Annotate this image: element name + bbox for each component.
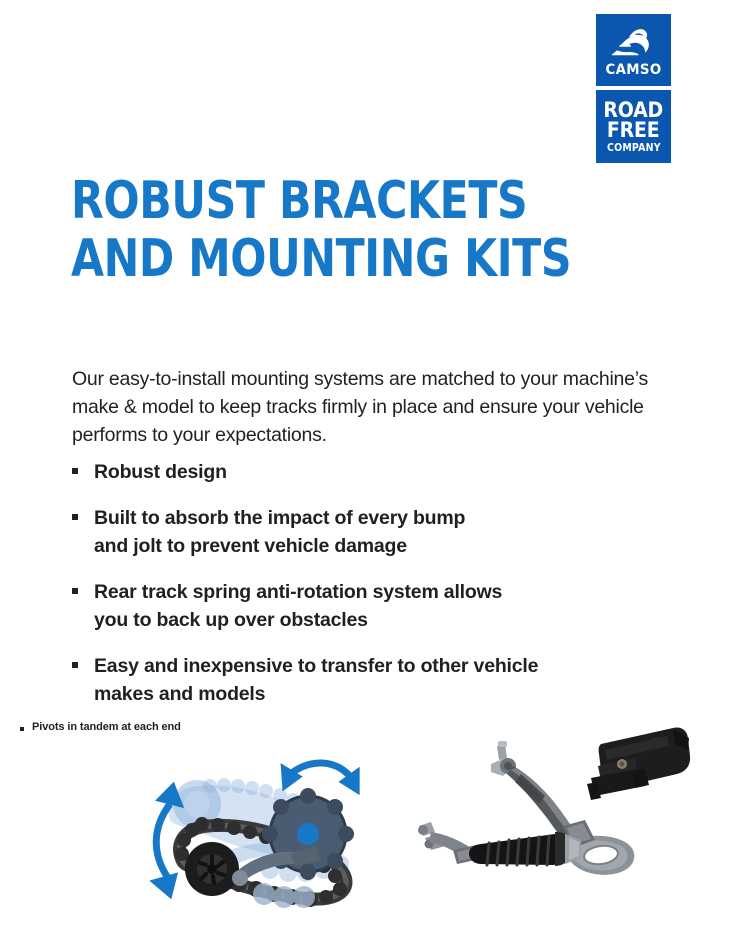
list-item: Rear track spring anti-rotation system a… [72, 578, 672, 635]
list-item: Robust design [72, 458, 672, 487]
road-free-line-1: ROAD [604, 100, 664, 121]
page-title: ROBUST BRACKETS AND MOUNTING KITS [71, 172, 571, 288]
camso-chevron-mark [611, 28, 657, 58]
road-free-line-3: COMPANY [607, 143, 661, 153]
pivot-arrow-left [156, 804, 170, 878]
camso-logo-box: CAMSO [596, 14, 671, 86]
square-bullet-icon [20, 727, 24, 731]
feature-list: Robust design Built to absorb the impact… [72, 458, 672, 726]
feature-text: Robust design [94, 458, 227, 487]
intro-paragraph: Our easy-to-install mounting systems are… [72, 365, 652, 449]
mounting-bracket [587, 727, 690, 800]
road-free-company-logo-box: ROAD FREE COMPANY [596, 90, 671, 163]
square-bullet-icon [72, 514, 78, 520]
square-bullet-icon [72, 588, 78, 594]
camso-logo-stack: CAMSO ROAD FREE COMPANY [596, 14, 671, 163]
camso-wordmark: CAMSO [605, 63, 661, 78]
road-free-line-2: FREE [607, 120, 660, 141]
feature-text: Easy and inexpensive to transfer to othe… [94, 652, 538, 709]
list-item: Built to absorb the impact of every bump… [72, 504, 672, 561]
square-bullet-icon [72, 468, 78, 474]
rubber-track-system-illustration [140, 742, 405, 912]
feature-text: Rear track spring anti-rotation system a… [94, 578, 502, 635]
square-bullet-icon [72, 662, 78, 668]
list-item: Easy and inexpensive to transfer to othe… [72, 652, 672, 709]
figure-caption: Pivots in tandem at each end [20, 720, 181, 734]
mounting-bracket-hardware-photo [405, 722, 715, 902]
feature-text: Built to absorb the impact of every bump… [94, 504, 465, 561]
figure-caption-text: Pivots in tandem at each end [32, 720, 181, 734]
